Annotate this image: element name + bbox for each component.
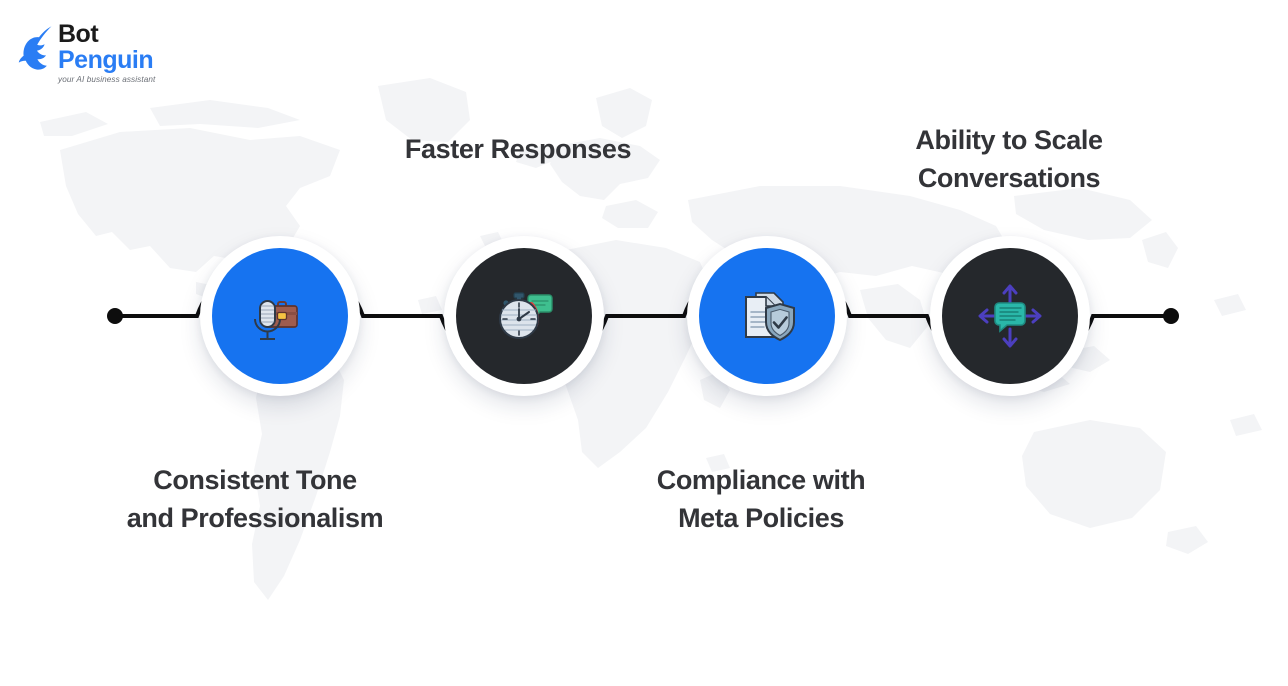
infographic-canvas: Bot Penguin your AI business assistant [0, 0, 1288, 686]
chat-expand-arrows-icon [973, 279, 1047, 353]
step-disc-3 [699, 248, 835, 384]
step-disc-4 [942, 248, 1078, 384]
connector-path [0, 0, 1288, 686]
step-node-3[interactable] [687, 236, 847, 396]
wave-end-dot [1163, 308, 1179, 324]
step-label-2: Faster Responses [405, 130, 631, 168]
step-node-2[interactable] [444, 236, 604, 396]
microphone-briefcase-icon [243, 279, 317, 353]
step-disc-2 [456, 248, 592, 384]
wave-start-dot [107, 308, 123, 324]
step-disc-1 [212, 248, 348, 384]
step-label-4: Ability to Scale Conversations [915, 121, 1102, 198]
step-node-1[interactable] [200, 236, 360, 396]
step-node-4[interactable] [930, 236, 1090, 396]
step-label-1: Consistent Tone and Professionalism [127, 461, 383, 538]
stopwatch-chat-icon [487, 279, 561, 353]
step-label-3: Compliance with Meta Policies [657, 461, 866, 538]
document-shield-check-icon [730, 279, 804, 353]
